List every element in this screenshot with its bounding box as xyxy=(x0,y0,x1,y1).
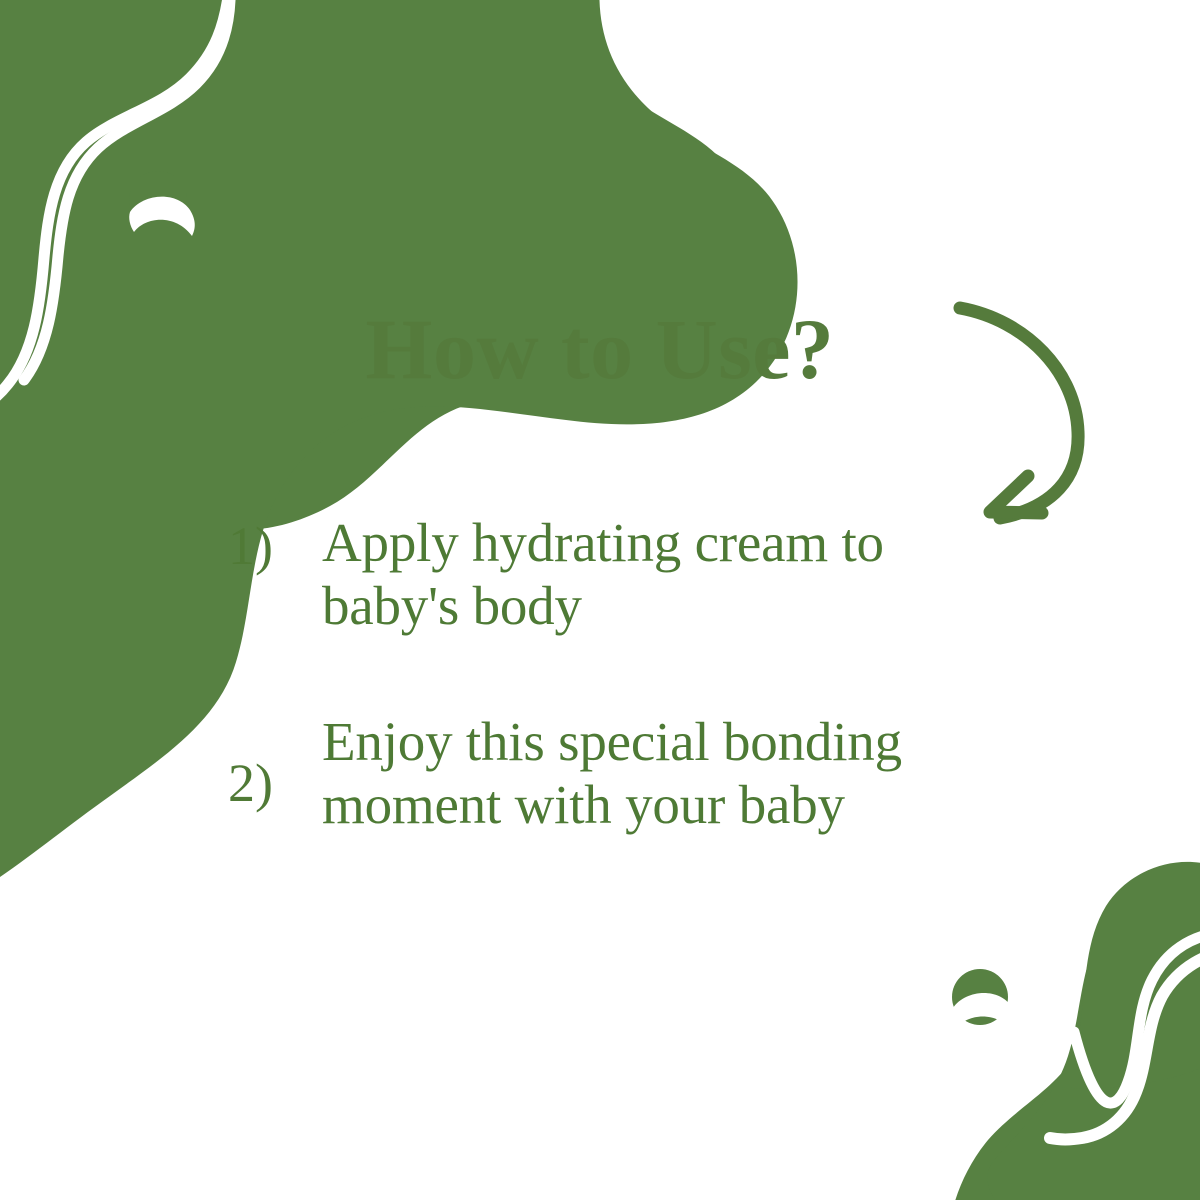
step-text: Apply hydrating cream to baby's body xyxy=(322,512,988,637)
poster-canvas: How to Use? 1) Apply hydrating cream to … xyxy=(0,0,1200,1200)
steps-list: 1) Apply hydrating cream to baby's body … xyxy=(228,512,988,837)
bottom-right-blob xyxy=(950,900,1200,1200)
page-title: How to Use? xyxy=(0,306,1200,392)
step-text: Enjoy this special bonding moment with y… xyxy=(322,711,988,836)
bottom-right-seed-circle xyxy=(952,969,1016,1032)
step-marker: 2) xyxy=(228,755,322,812)
list-item: 1) Apply hydrating cream to baby's body xyxy=(228,512,988,637)
bottom-right-blob-main xyxy=(987,876,1200,1200)
bottom-right-blob-lobe xyxy=(1052,862,1200,1088)
step-marker: 1) xyxy=(228,518,322,575)
list-item: 2) Enjoy this special bonding moment wit… xyxy=(228,711,988,836)
bottom-right-blob-accent-line xyxy=(1074,932,1200,1103)
top-left-blob xyxy=(0,0,761,530)
bottom-right-blob-accent-line-main xyxy=(1050,948,1200,1140)
top-left-seed-circle xyxy=(129,171,195,236)
